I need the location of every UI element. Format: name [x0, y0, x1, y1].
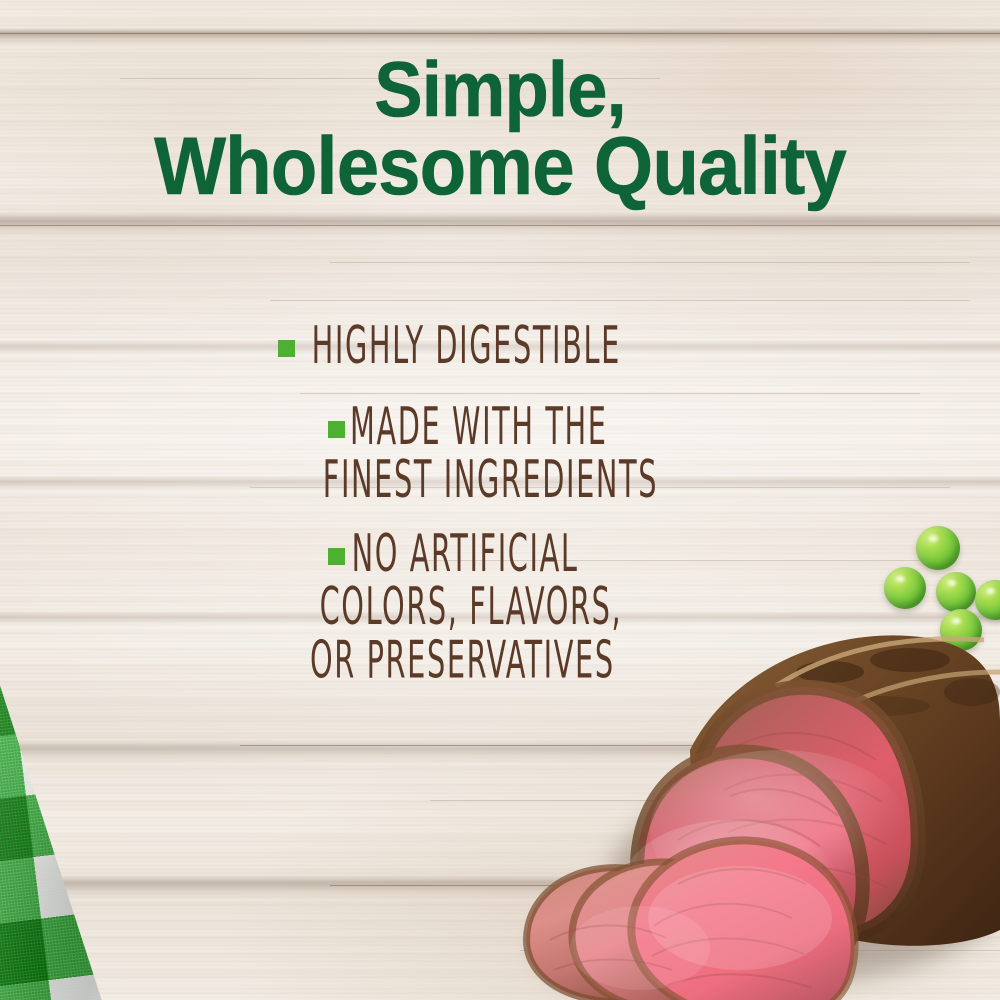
beef-slices-image — [520, 808, 860, 1000]
wood-grain-line — [270, 300, 970, 301]
benefit-item-highly-digestible: HIGHLY DIGESTIBLE — [278, 320, 798, 361]
benefit-line: FINEST INGREDIENTS — [323, 455, 694, 509]
wood-grain-line — [0, 225, 1000, 226]
poster-canvas: Simple, Wholesome Quality HIGHLY DIGESTI… — [0, 0, 1000, 1000]
wood-grain-line — [0, 33, 1000, 34]
headline-line-2: Wholesome Quality — [35, 128, 965, 206]
benefit-text: NO ARTIFICIAL COLORS, FLAVORS, OR PRESER… — [278, 528, 694, 689]
benefit-text: HIGHLY DIGESTIBLE — [278, 320, 694, 374]
benefit-text: MADE WITH THE FINEST INGREDIENTS — [278, 401, 694, 508]
wood-grain-line — [330, 262, 970, 263]
benefit-line: OR PRESERVATIVES — [310, 635, 694, 689]
benefit-line: NO ARTIFICIAL — [352, 528, 694, 582]
benefit-line: MADE WITH THE — [350, 401, 694, 455]
headline: Simple, Wholesome Quality — [0, 52, 1000, 206]
benefits-list: HIGHLY DIGESTIBLE MADE WITH THE FINEST I… — [278, 320, 798, 677]
headline-line-1: Simple, — [35, 52, 965, 126]
pea-1 — [916, 526, 960, 570]
benefit-line: HIGHLY DIGESTIBLE — [312, 320, 694, 374]
benefit-item-finest-ingredients: MADE WITH THE FINEST INGREDIENTS — [278, 401, 798, 483]
benefit-line: COLORS, FLAVORS, — [320, 581, 694, 635]
benefit-item-no-artificial: NO ARTIFICIAL COLORS, FLAVORS, OR PRESER… — [278, 528, 798, 652]
